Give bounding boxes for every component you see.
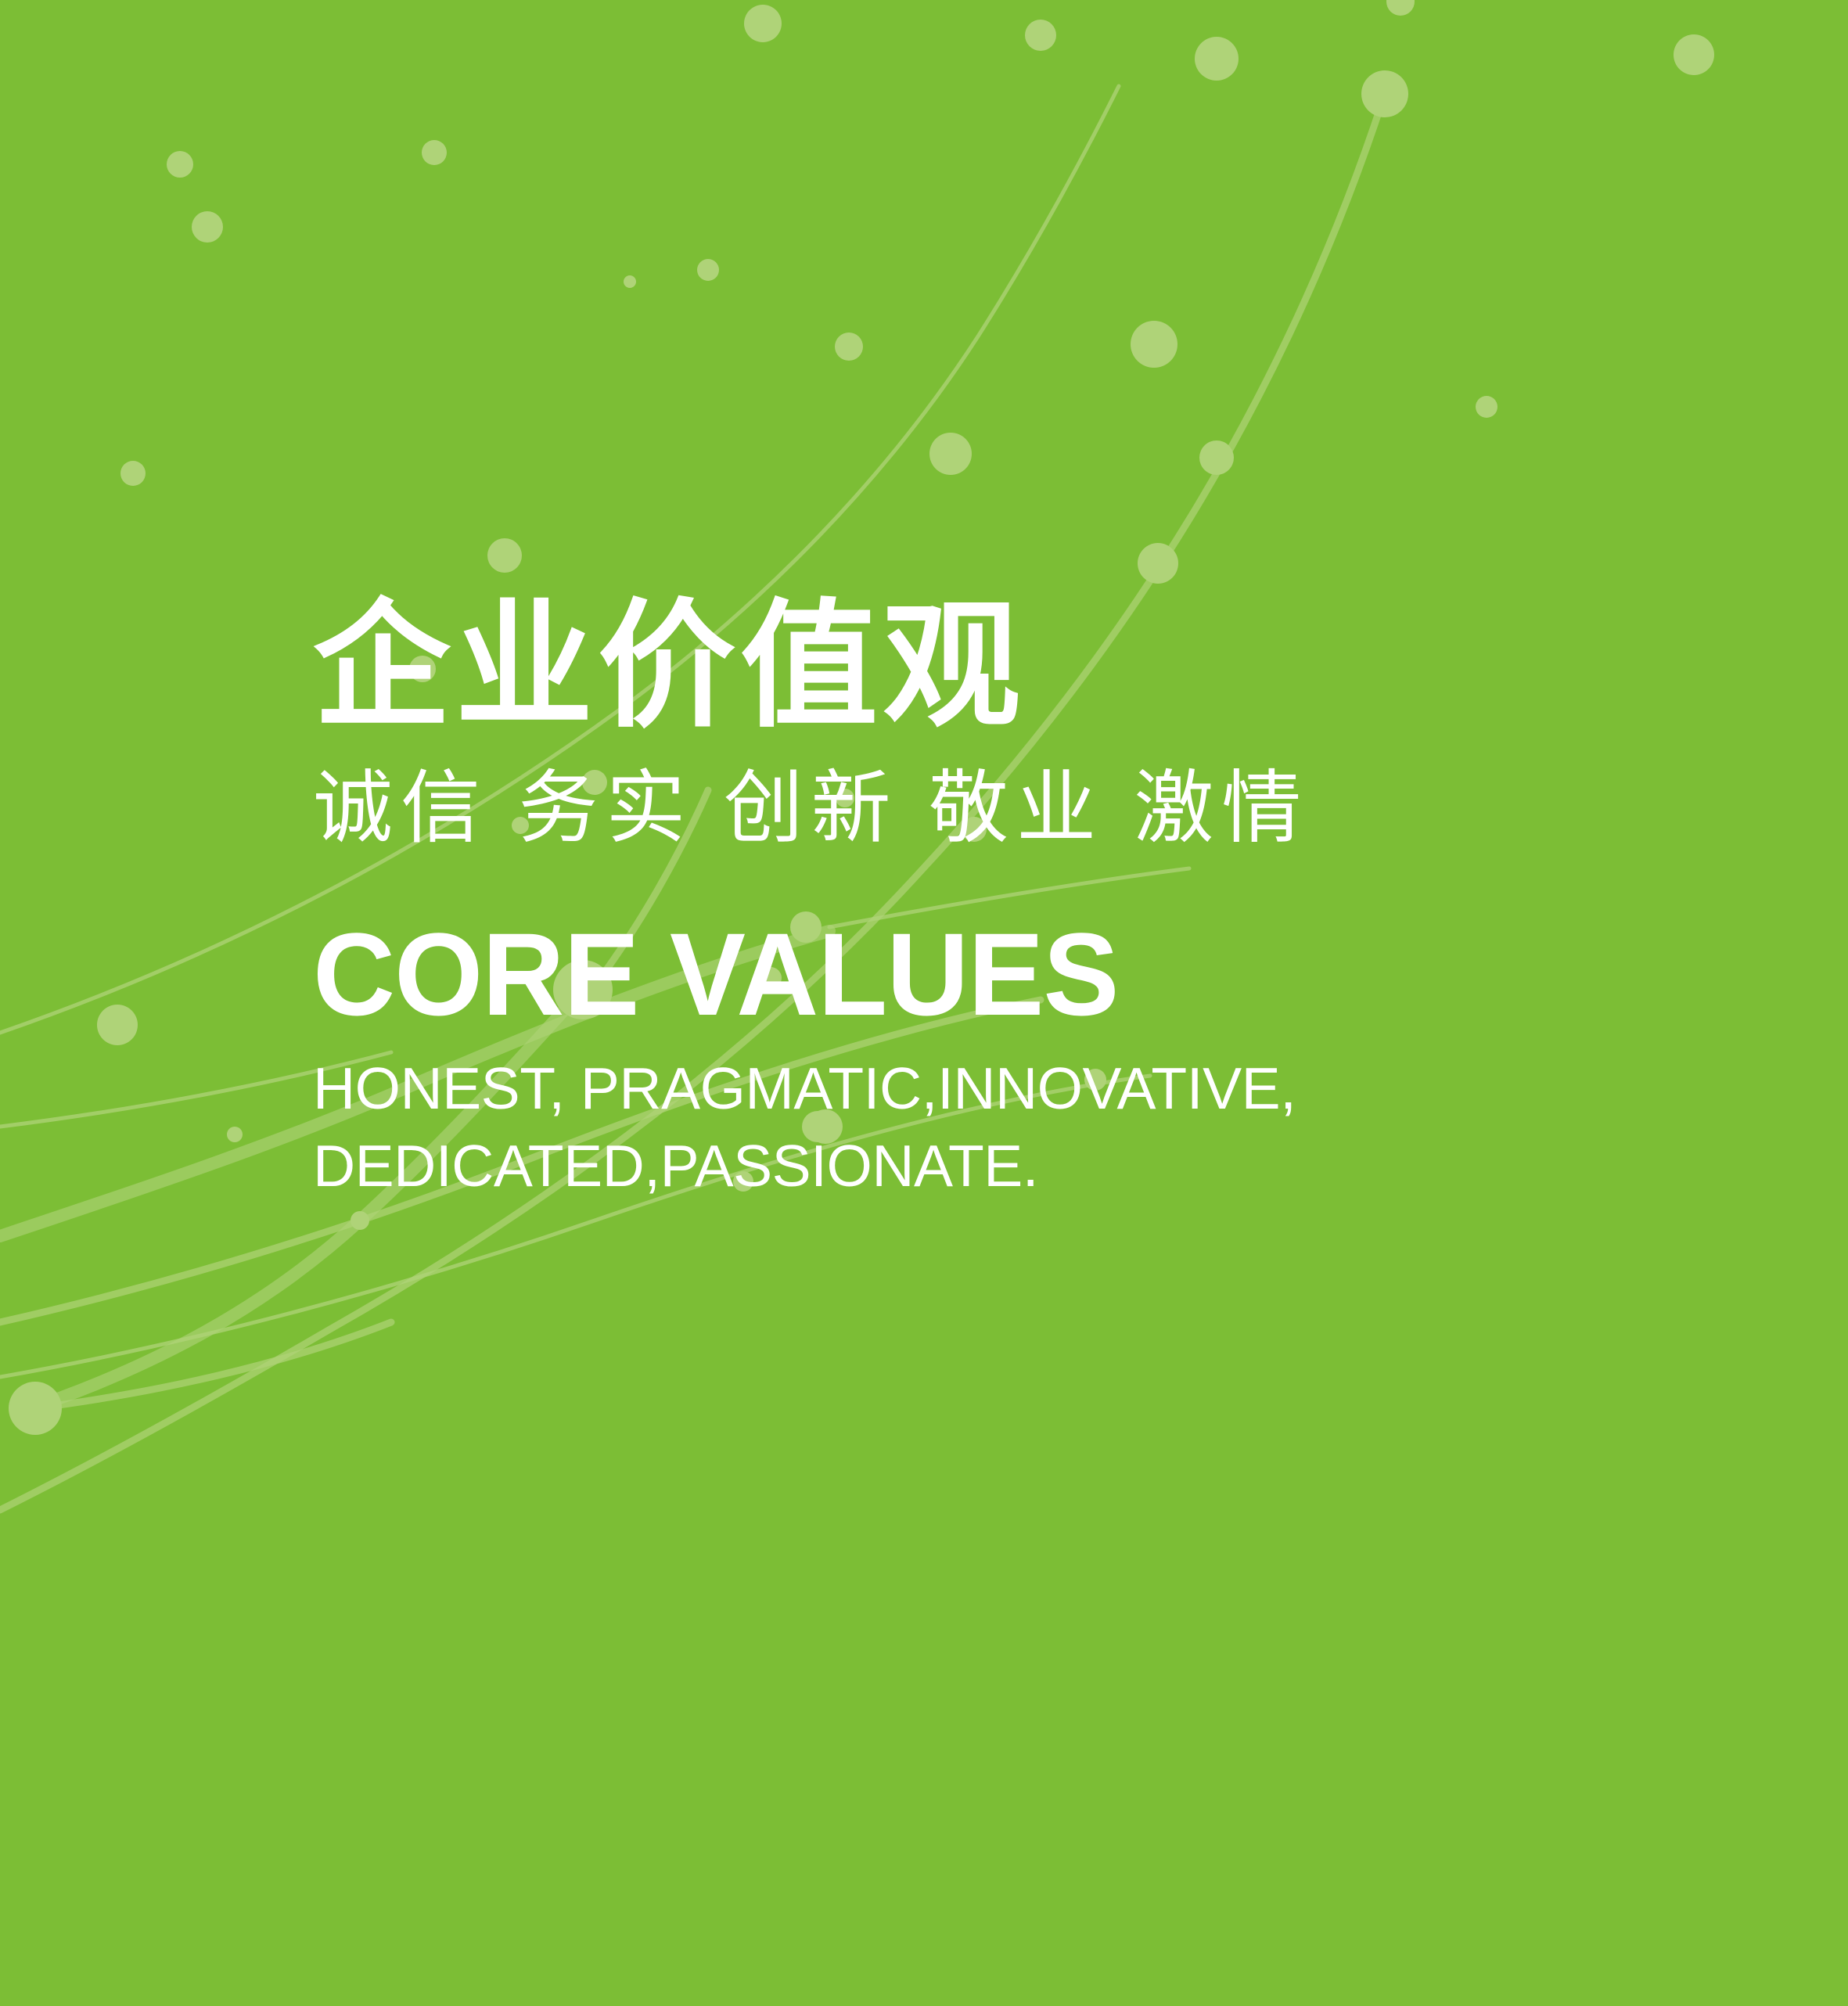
english-description-line-1: HONEST, PRAGMATIC,INNOVATIVE, (313, 1050, 1721, 1127)
headline-group: 企业价值观 诚信 务实 创新 敬业 激情 CORE VALUES HONEST,… (313, 595, 1721, 1205)
english-description: HONEST, PRAGMATIC,INNOVATIVE, DEDICATED,… (313, 1050, 1721, 1205)
core-values-poster: .ln { fill:none; stroke:#AFD378; stroke-… (0, 0, 1848, 2006)
chinese-subtitle: 诚信 务实 创新 敬业 激情 (313, 763, 1721, 854)
chinese-title: 企业价值观 (313, 595, 1721, 739)
english-title: CORE VALUES (313, 915, 1679, 1033)
english-description-line-2: DEDICATED,PASSIONATE. (313, 1127, 1721, 1205)
